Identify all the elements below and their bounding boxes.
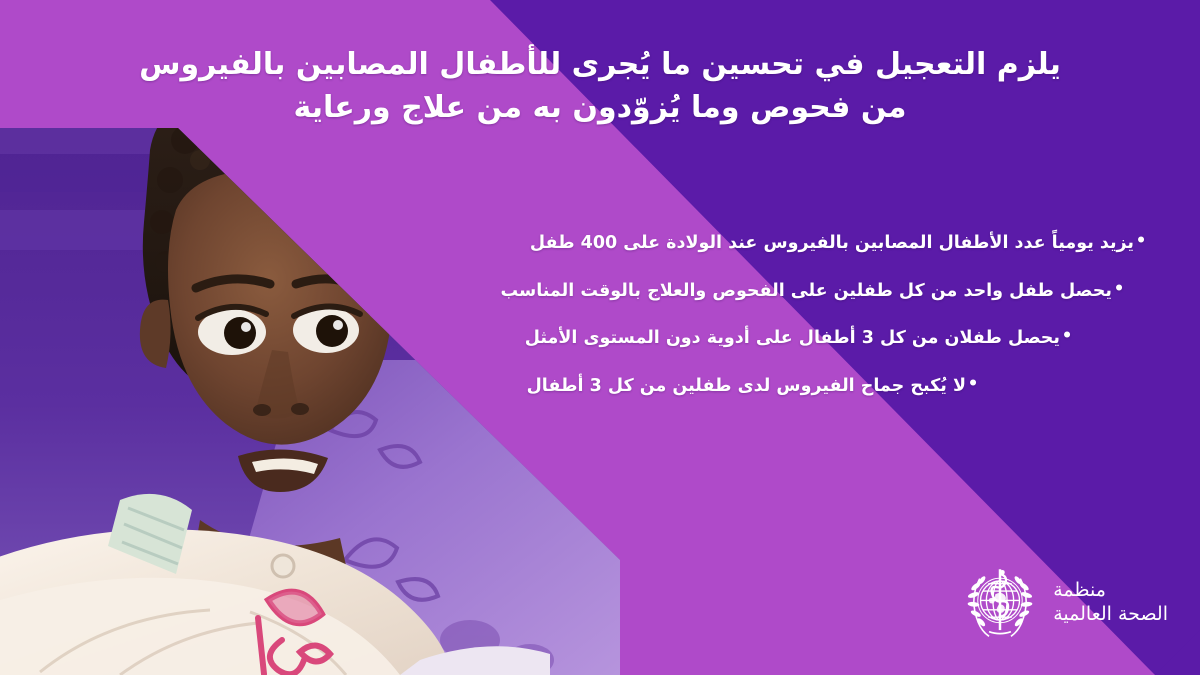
key-facts-list: • يزيد يومياً عدد الأطفال المصابين بالفي… xyxy=(48,232,1148,423)
bullet-dot-icon: • xyxy=(1112,281,1126,298)
headline-line-1: يلزم التعجيل في تحسين ما يُجرى للأطفال ا… xyxy=(40,44,1160,87)
who-wordmark: منظمة الصحة العالمية xyxy=(1053,578,1168,627)
who-wordmark-line-2: الصحة العالمية xyxy=(1053,602,1168,626)
list-item: • يحصل طفلان من كل 3 أطفال على أدوية دون… xyxy=(525,327,1074,351)
bullet-dot-icon: • xyxy=(1060,328,1074,345)
headline: يلزم التعجيل في تحسين ما يُجرى للأطفال ا… xyxy=(40,44,1160,129)
list-item-label: يحصل طفل واحد من كل طفلين على الفحوص وال… xyxy=(500,280,1112,304)
headline-line-2: من فحوص وما يُزوّدون به من علاج ورعاية xyxy=(40,87,1160,130)
list-item: • يزيد يومياً عدد الأطفال المصابين بالفي… xyxy=(530,232,1148,256)
who-logo-lockup: منظمة الصحة العالمية xyxy=(961,563,1168,641)
list-item-label: يحصل طفلان من كل 3 أطفال على أدوية دون ا… xyxy=(525,327,1060,351)
list-item-label: لا يُكبح جماح الفيروس لدى طفلين من كل 3 … xyxy=(527,375,966,399)
poster-canvas: يلزم التعجيل في تحسين ما يُجرى للأطفال ا… xyxy=(0,0,1200,675)
bullet-dot-icon: • xyxy=(966,376,980,393)
list-item: • لا يُكبح جماح الفيروس لدى طفلين من كل … xyxy=(527,375,980,399)
who-emblem-icon xyxy=(961,563,1039,641)
who-wordmark-line-1: منظمة xyxy=(1053,578,1168,602)
list-item: • يحصل طفل واحد من كل طفلين على الفحوص و… xyxy=(500,280,1126,304)
list-item-label: يزيد يومياً عدد الأطفال المصابين بالفيرو… xyxy=(530,232,1134,256)
bullet-dot-icon: • xyxy=(1134,233,1148,250)
